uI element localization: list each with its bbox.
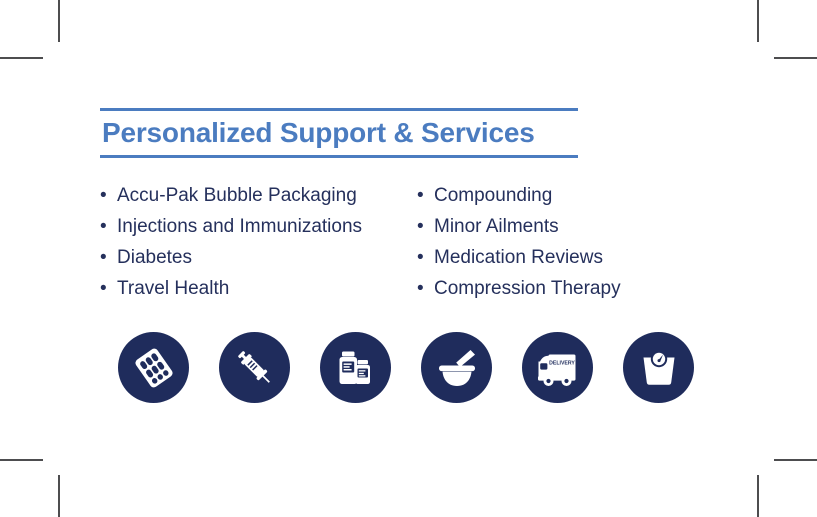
blister-pack-icon [132,346,176,390]
heading-block: Personalized Support & Services [100,108,578,158]
list-item-label: Compounding [434,180,552,211]
services-lists: • Accu-Pak Bubble Packaging • Injections… [100,180,700,304]
bullet-icon: • [417,211,434,242]
crop-mark-bottom-right-horizontal [774,459,817,461]
pill-bottles-icon [335,347,377,389]
icon-badge-syringe [219,332,290,403]
bullet-icon: • [100,180,117,211]
bullet-icon: • [417,180,434,211]
slide-canvas: Personalized Support & Services • Accu-P… [0,0,817,517]
service-icon-row: DELIVERY [118,332,694,403]
bullet-icon: • [417,242,434,273]
truck-label-text: DELIVERY [549,360,575,366]
list-item: • Minor Ailments [417,211,700,242]
crop-mark-top-left-vertical [58,0,60,42]
list-item: • Medication Reviews [417,242,700,273]
crop-mark-top-right-vertical [757,0,759,42]
list-item-label: Injections and Immunizations [117,211,362,242]
icon-badge-weight-scale [623,332,694,403]
list-item: • Accu-Pak Bubble Packaging [100,180,417,211]
services-column-left: • Accu-Pak Bubble Packaging • Injections… [100,180,417,304]
icon-badge-mortar-pestle [421,332,492,403]
bullet-icon: • [417,273,434,304]
list-item: • Travel Health [100,273,417,304]
list-item: • Injections and Immunizations [100,211,417,242]
list-item-label: Medication Reviews [434,242,603,273]
syringe-icon [232,345,278,391]
list-item: • Compression Therapy [417,273,700,304]
crop-mark-top-left-horizontal [0,57,43,59]
crop-mark-top-right-horizontal [774,57,817,59]
delivery-truck-icon: DELIVERY [535,347,581,389]
list-item-label: Diabetes [117,242,192,273]
services-column-right: • Compounding • Minor Ailments • Medicat… [417,180,700,304]
list-item-label: Travel Health [117,273,229,304]
icon-badge-delivery-truck: DELIVERY [522,332,593,403]
crop-mark-bottom-right-vertical [757,475,759,517]
bullet-icon: • [100,211,117,242]
mortar-pestle-icon [434,345,480,391]
title-rule-bottom [100,155,578,158]
list-item-label: Minor Ailments [434,211,559,242]
bullet-icon: • [100,242,117,273]
page-title: Personalized Support & Services [100,111,578,155]
list-item: • Compounding [417,180,700,211]
crop-mark-bottom-left-horizontal [0,459,43,461]
list-item-label: Accu-Pak Bubble Packaging [117,180,357,211]
weight-scale-icon [637,346,681,390]
icon-badge-blister-pack [118,332,189,403]
bullet-icon: • [100,273,117,304]
crop-mark-bottom-left-vertical [58,475,60,517]
list-item-label: Compression Therapy [434,273,621,304]
icon-badge-pill-bottles [320,332,391,403]
list-item: • Diabetes [100,242,417,273]
